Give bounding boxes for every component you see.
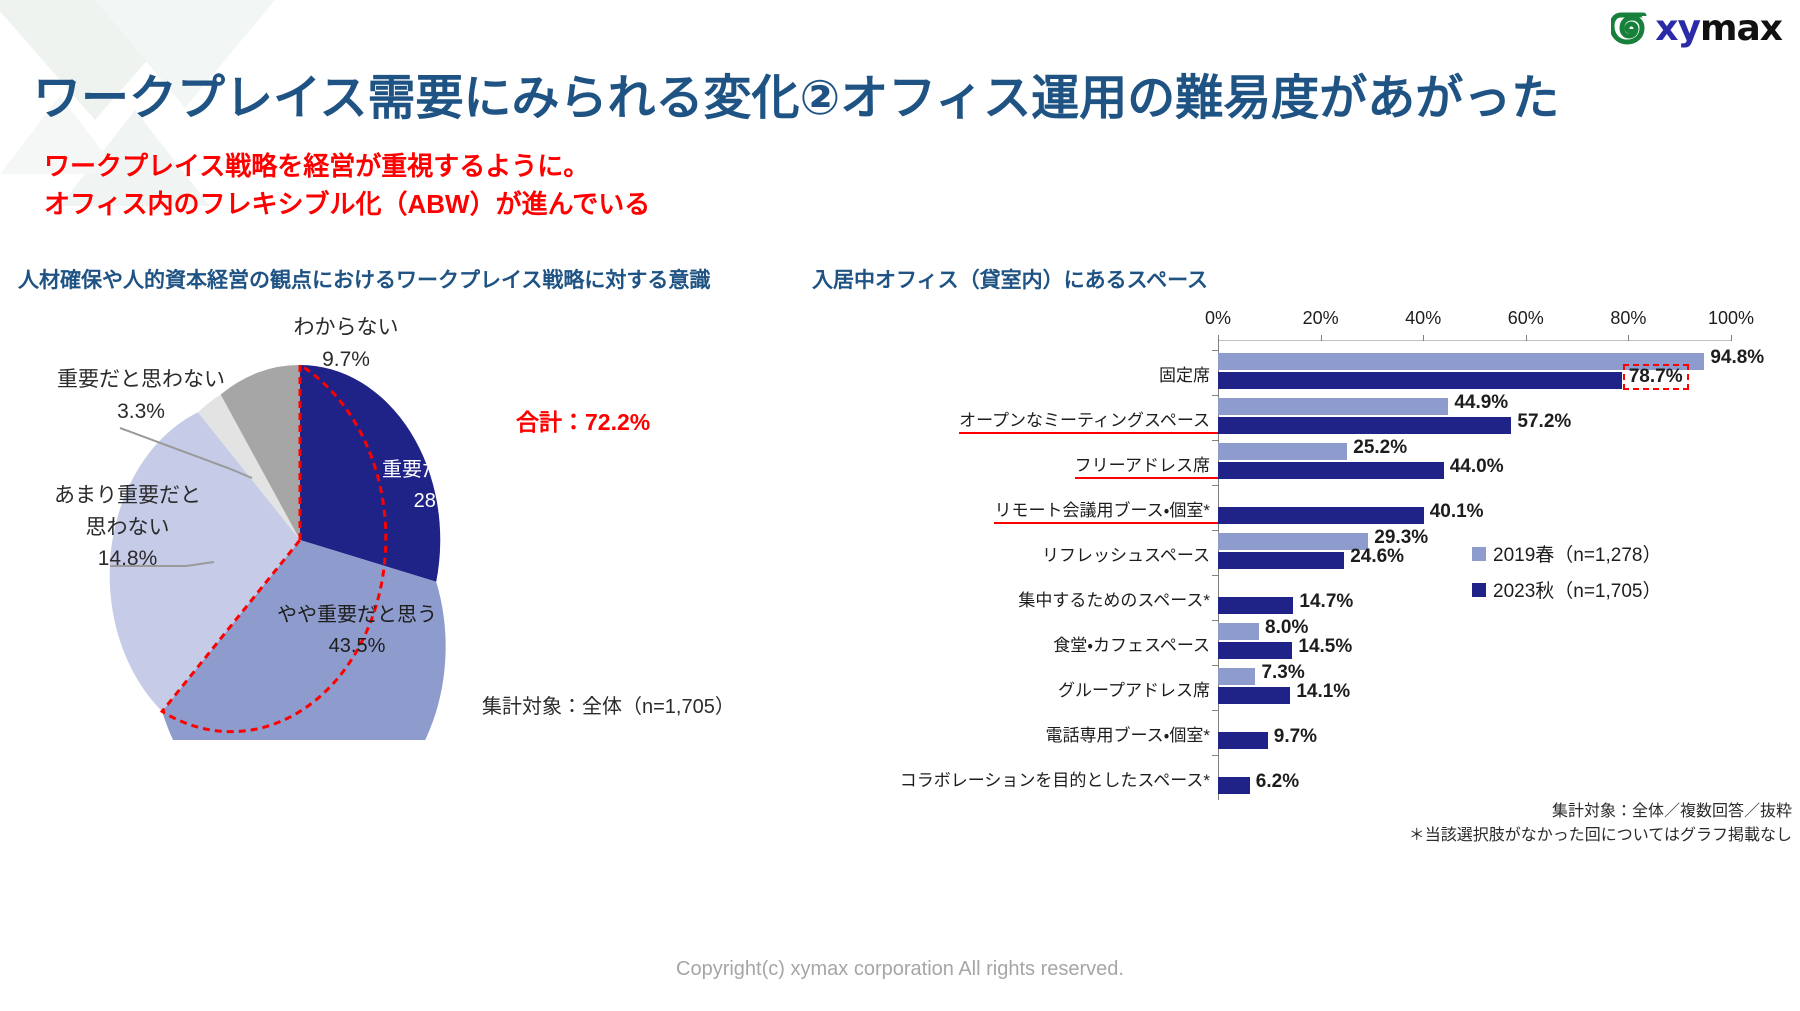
pie-label-juyou: 重要だと思う 28.7% bbox=[352, 455, 532, 517]
bar-row: リモート会議用ブース・個室*40.1% bbox=[812, 485, 1800, 530]
bar-source-note-line-1: 集計対象：全体／複数回答／抜粋 bbox=[1409, 800, 1792, 824]
bar-value-label: 40.1% bbox=[1430, 501, 1484, 523]
pie-label-juyou-value: 28.7% bbox=[352, 486, 532, 517]
bar-category-label: リフレッシュスペース bbox=[1042, 541, 1218, 566]
bar-source-note-line-2: ＊当該選択肢がなかった回についてはグラフ掲載なし bbox=[1409, 824, 1792, 848]
copyright-text: Copyright(c) xymax corporation All right… bbox=[0, 958, 1800, 981]
pie-label-juyou-nai: 重要だと思わない 3.3% bbox=[26, 364, 256, 427]
logo-max: max bbox=[1700, 8, 1782, 49]
x-tick-mark bbox=[1628, 335, 1629, 341]
bar-segment bbox=[1218, 668, 1255, 685]
bar-category-label: コラボレーションを目的としたスペース* bbox=[900, 766, 1218, 791]
bar-value-label: 6.2% bbox=[1256, 771, 1299, 793]
bar-category-label: フリーアドレス席 bbox=[1075, 451, 1218, 479]
legend-label: 2023秋（n=1,705） bbox=[1493, 576, 1661, 603]
pie-label-yaya-value: 43.5% bbox=[242, 631, 472, 662]
bar-value-label: 57.2% bbox=[1517, 411, 1571, 433]
bar-category-label: リモート会議用ブース・個室* bbox=[994, 496, 1218, 524]
bar-value-label: 25.2% bbox=[1353, 437, 1407, 459]
bar-category-label: 集中するためのスペース* bbox=[1018, 586, 1218, 611]
x-axis-line bbox=[1218, 340, 1731, 341]
legend-item: 2023秋（n=1,705） bbox=[1472, 576, 1661, 603]
pie-chart: わからない 9.7% 重要だと思わない 3.3% あまり重要だと 思わない 14… bbox=[0, 300, 800, 860]
bar-segment bbox=[1218, 372, 1622, 389]
bar-segment bbox=[1218, 462, 1444, 479]
bar-value-label: 9.7% bbox=[1274, 726, 1317, 748]
pie-label-juyou-nai-value: 3.3% bbox=[26, 396, 256, 428]
pie-label-wakaranai-name: わからない bbox=[246, 312, 446, 344]
left-chart-heading: 人材確保や人的資本経営の観点におけるワークプレイス戦略に対する意識 bbox=[18, 264, 710, 294]
bar-segment bbox=[1218, 533, 1368, 550]
pie-label-amari-value: 14.8% bbox=[10, 543, 245, 575]
bar-segment bbox=[1218, 687, 1290, 704]
spiral-mark-icon bbox=[1611, 12, 1649, 46]
bar-segment bbox=[1218, 398, 1448, 415]
pie-label-wakaranai: わからない 9.7% bbox=[246, 312, 446, 375]
bar-value-label: 94.8% bbox=[1710, 347, 1764, 369]
bar-segment bbox=[1218, 417, 1511, 434]
bar-segment bbox=[1218, 642, 1292, 659]
bar-value-label: 44.9% bbox=[1454, 392, 1508, 414]
bar-value-label: 14.5% bbox=[1298, 636, 1352, 658]
lead-message: ワークプレイス戦略を経営が重視するように。 オフィス内のフレキシブル化（ABW）… bbox=[44, 148, 650, 223]
bar-row: 電話専用ブース・個室*9.7% bbox=[812, 710, 1800, 755]
pie-label-amari-name-2: 思わない bbox=[10, 512, 245, 544]
page-title: ワークプレイス需要にみられる変化②オフィス運用の難易度があがった bbox=[33, 58, 1559, 128]
bar-row: 食堂・カフェスペース8.0%14.5% bbox=[812, 620, 1800, 665]
logo-wordmark: xymax bbox=[1655, 11, 1782, 47]
bar-segment bbox=[1218, 777, 1250, 794]
bar-category-label: 電話専用ブース・個室* bbox=[1045, 721, 1218, 746]
bar-chart-x-axis: 0%20%40%60%80%100% bbox=[812, 308, 1800, 334]
x-tick-label: 80% bbox=[1610, 308, 1646, 329]
lead-line-2: オフィス内のフレキシブル化（ABW）が進んでいる bbox=[44, 186, 650, 224]
x-tick-mark bbox=[1526, 335, 1527, 341]
bar-row: 固定席94.8%78.7% bbox=[812, 350, 1800, 395]
bar-segment bbox=[1218, 552, 1344, 569]
slide-canvas: xymax ワークプレイス需要にみられる変化②オフィス運用の難易度があがった ワ… bbox=[0, 0, 1800, 1011]
bar-source-note: 集計対象：全体／複数回答／抜粋 ＊当該選択肢がなかった回についてはグラフ掲載なし bbox=[1409, 800, 1792, 848]
pie-label-amari-name-1: あまり重要だと bbox=[10, 480, 245, 512]
bar-segment bbox=[1218, 597, 1293, 614]
bar-row: グループアドレス席7.3%14.1% bbox=[812, 665, 1800, 710]
pie-source-note: 集計対象：全体（n=1,705） bbox=[482, 690, 735, 719]
legend-swatch-icon bbox=[1472, 547, 1486, 561]
x-tick-label: 60% bbox=[1508, 308, 1544, 329]
pie-label-yaya: やや重要だと思う 43.5% bbox=[242, 600, 472, 662]
pie-total-badge: 合計：72.2% bbox=[516, 403, 650, 437]
x-tick-label: 100% bbox=[1708, 308, 1754, 329]
x-tick-mark bbox=[1731, 335, 1732, 341]
bar-category-label: 固定席 bbox=[1159, 361, 1218, 386]
bar-segment bbox=[1218, 732, 1268, 749]
bar-value-label: 14.7% bbox=[1299, 591, 1353, 613]
x-tick-label: 40% bbox=[1405, 308, 1441, 329]
x-tick-mark bbox=[1321, 335, 1322, 341]
bar-segment bbox=[1218, 443, 1347, 460]
bar-value-label: 24.6% bbox=[1350, 546, 1404, 568]
bar-segment bbox=[1218, 623, 1259, 640]
pie-label-juyou-name: 重要だと思う bbox=[352, 455, 532, 486]
bar-chart-legend: 2019春（n=1,278）2023秋（n=1,705） bbox=[1472, 540, 1661, 612]
bar-category-label: 食堂・カフェスペース bbox=[1053, 631, 1218, 656]
bar-value-label: 44.0% bbox=[1450, 456, 1504, 478]
x-tick-mark bbox=[1423, 335, 1424, 341]
lead-line-1: ワークプレイス戦略を経営が重視するように。 bbox=[44, 148, 650, 186]
x-tick-label: 0% bbox=[1205, 308, 1231, 329]
bar-value-label: 78.7% bbox=[1623, 364, 1689, 390]
x-tick-mark bbox=[1218, 335, 1219, 341]
xymax-logo: xymax bbox=[1611, 8, 1782, 50]
pie-label-wakaranai-value: 9.7% bbox=[246, 344, 446, 376]
bar-row: フリーアドレス席25.2%44.0% bbox=[812, 440, 1800, 485]
legend-item: 2019春（n=1,278） bbox=[1472, 540, 1661, 567]
pie-label-yaya-name: やや重要だと思う bbox=[242, 600, 472, 631]
bar-category-label: グループアドレス席 bbox=[1058, 676, 1218, 701]
bar-row: オープンなミーティングスペース44.9%57.2% bbox=[812, 395, 1800, 440]
pie-label-juyou-nai-name: 重要だと思わない bbox=[26, 364, 256, 396]
bar-category-label: オープンなミーティングスペース bbox=[959, 406, 1218, 434]
logo-xy: xy bbox=[1655, 8, 1700, 49]
legend-label: 2019春（n=1,278） bbox=[1493, 540, 1661, 567]
legend-swatch-icon bbox=[1472, 583, 1486, 597]
x-tick-label: 20% bbox=[1303, 308, 1339, 329]
right-chart-heading: 入居中オフィス（貸室内）にあるスペース bbox=[812, 264, 1208, 294]
bar-value-label: 14.1% bbox=[1296, 681, 1350, 703]
bar-segment bbox=[1218, 507, 1424, 524]
pie-label-amari: あまり重要だと 思わない 14.8% bbox=[10, 480, 245, 575]
bar-row: コラボレーションを目的としたスペース*6.2% bbox=[812, 755, 1800, 800]
bar-chart: 0%20%40%60%80%100% 固定席94.8%78.7%オープンなミーテ… bbox=[812, 300, 1800, 900]
